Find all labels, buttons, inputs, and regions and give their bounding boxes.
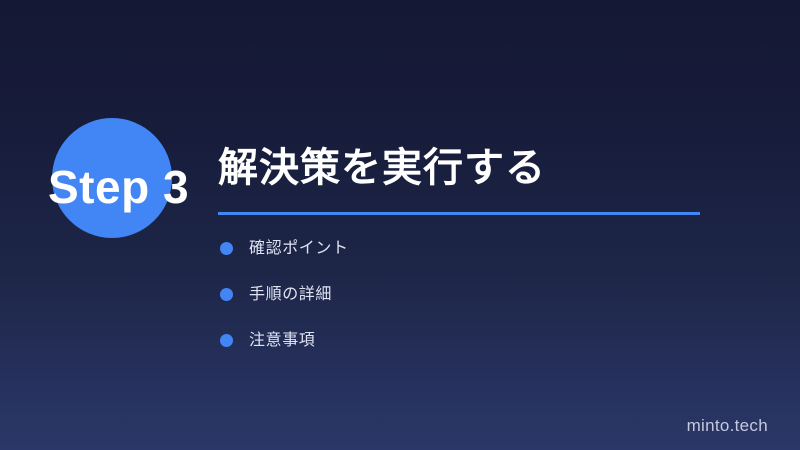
bullet-dot-icon [220, 334, 233, 347]
step-badge: Step 3 [52, 118, 172, 238]
list-item-label: 手順の詳細 [249, 283, 332, 306]
presentation-slide: Step 3 解決策を実行する 確認ポイント 手順の詳細 注意事項 minto.… [0, 0, 800, 450]
bullet-dot-icon [220, 288, 233, 301]
heading-block: 解決策を実行する [218, 141, 778, 195]
slide-title: 解決策を実行する [218, 141, 778, 195]
footer-brand-label: minto.tech [687, 416, 768, 436]
bullet-dot-icon [220, 242, 233, 255]
bullet-list: 確認ポイント 手順の詳細 注意事項 [220, 237, 349, 375]
list-item: 注意事項 [220, 329, 349, 352]
list-item-label: 注意事項 [249, 329, 315, 352]
list-item: 手順の詳細 [220, 283, 349, 306]
list-item-label: 確認ポイント [249, 237, 349, 260]
list-item: 確認ポイント [220, 237, 349, 260]
title-underline-rule [218, 212, 700, 215]
